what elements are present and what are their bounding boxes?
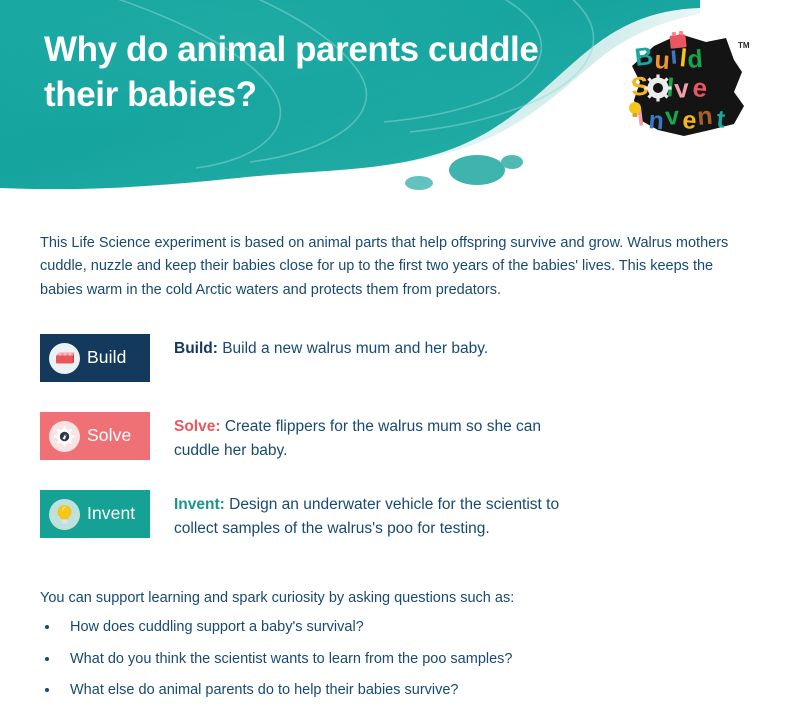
svg-text:B: B bbox=[633, 42, 654, 72]
svg-text:e: e bbox=[682, 106, 698, 135]
step-keyword-invent: Invent: bbox=[174, 496, 225, 513]
list-item: How does cuddling support a baby's survi… bbox=[40, 617, 740, 639]
svg-text:d: d bbox=[686, 45, 703, 74]
build-solve-invent-logo: B u i l d S l v e bbox=[618, 26, 758, 144]
questions-list: How does cuddling support a baby's survi… bbox=[40, 617, 740, 702]
svg-text:v: v bbox=[664, 102, 680, 131]
badge-build[interactable]: Build bbox=[40, 334, 150, 382]
steps-list: Build Build: Build a new walrus mum and … bbox=[40, 334, 760, 568]
badge-label-invent: Invent bbox=[87, 505, 135, 523]
page-title: Why do animal parents cuddle their babie… bbox=[44, 28, 564, 118]
question-text: What do you think the scientist wants to… bbox=[70, 651, 512, 667]
question-text: What else do animal parents do to help t… bbox=[70, 682, 459, 698]
svg-text:e: e bbox=[691, 72, 708, 103]
step-text-invent: Invent: Design an underwater vehicle for… bbox=[150, 490, 580, 541]
step-text-build: Build: Build a new walrus mum and her ba… bbox=[150, 334, 580, 361]
intro-paragraph: This Life Science experiment is based on… bbox=[40, 232, 740, 302]
questions-section: You can support learning and spark curio… bbox=[40, 588, 740, 712]
badge-label-solve: Solve bbox=[87, 427, 131, 445]
svg-text:S: S bbox=[629, 70, 649, 102]
bullet-icon bbox=[45, 688, 49, 692]
bullet-icon bbox=[45, 625, 49, 629]
step-body-invent: Design an underwater vehicle for the sci… bbox=[174, 496, 559, 537]
gear-icon bbox=[49, 421, 80, 452]
question-text: How does cuddling support a baby's survi… bbox=[70, 619, 364, 635]
badge-invent[interactable]: Invent bbox=[40, 490, 150, 538]
bullet-icon bbox=[45, 657, 49, 661]
activity-sheet-page: Why do animal parents cuddle their babie… bbox=[0, 0, 800, 718]
header-banner: Why do animal parents cuddle their babie… bbox=[0, 0, 800, 210]
svg-text:n: n bbox=[696, 102, 714, 131]
badge-label-build: Build bbox=[87, 349, 126, 367]
step-row-build: Build Build: Build a new walrus mum and … bbox=[40, 334, 760, 390]
svg-text:u: u bbox=[654, 46, 671, 75]
step-keyword-solve: Solve: bbox=[174, 418, 221, 435]
step-text-solve: Solve: Create flippers for the walrus mu… bbox=[150, 412, 580, 463]
step-body-solve: Create flippers for the walrus mum so sh… bbox=[174, 418, 541, 459]
step-keyword-build: Build: bbox=[174, 340, 218, 357]
svg-text:n: n bbox=[647, 106, 665, 135]
svg-text:v: v bbox=[673, 73, 690, 104]
badge-solve[interactable]: Solve bbox=[40, 412, 150, 460]
list-item: What else do animal parents do to help t… bbox=[40, 680, 740, 702]
list-item: What do you think the scientist wants to… bbox=[40, 649, 740, 671]
step-row-solve: Solve Solve: Create flippers for the wal… bbox=[40, 412, 760, 468]
lightbulb-icon bbox=[49, 499, 80, 530]
brick-icon bbox=[49, 343, 80, 374]
step-body-build: Build a new walrus mum and her baby. bbox=[218, 340, 488, 357]
step-row-invent: Invent Invent: Design an underwater vehi… bbox=[40, 490, 760, 546]
gear-icon bbox=[645, 75, 672, 102]
trademark-symbol: TM bbox=[738, 41, 750, 50]
questions-lead: You can support learning and spark curio… bbox=[40, 588, 740, 610]
